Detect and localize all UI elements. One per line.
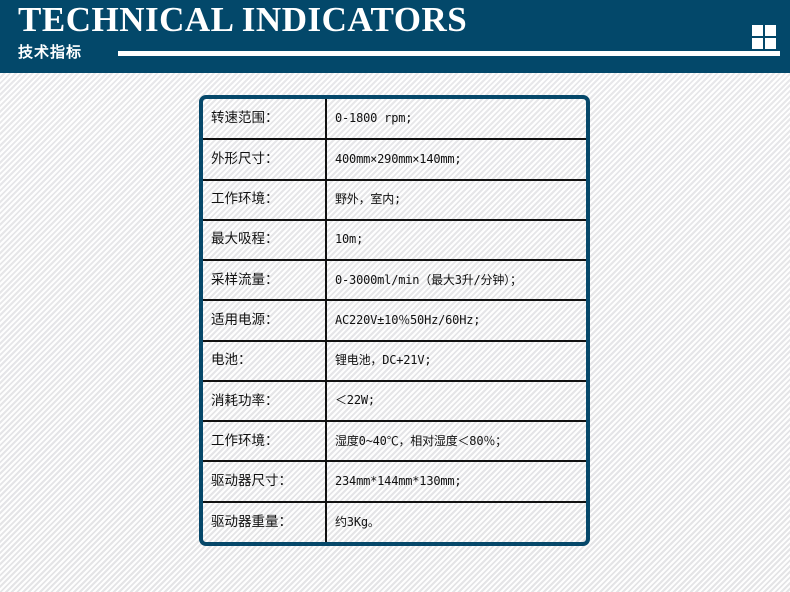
- spec-value-cell: 湿度0~40℃，相对湿度＜80％；: [326, 421, 586, 461]
- spec-value-cell: 约3Kg。: [326, 502, 586, 542]
- spec-value-cell: 400mm×290mm×140mm;: [326, 139, 586, 179]
- spec-label-cell: 最大吸程：: [203, 220, 326, 260]
- specifications-table-container: 转速范围：0-1800 rpm;外形尺寸：400mm×290mm×140mm;工…: [199, 95, 590, 546]
- grid-square-top-left: [752, 25, 763, 36]
- spec-value-cell: ＜22W;: [326, 381, 586, 421]
- grid-square-bottom-right: [765, 38, 776, 49]
- table-row: 电池：锂电池，DC+21V;: [203, 341, 586, 381]
- grid-square-bottom-left: [752, 38, 763, 49]
- table-row: 适用电源：AC220V±10％50Hz/60Hz;: [203, 300, 586, 340]
- table-row: 工作环境：湿度0~40℃，相对湿度＜80％；: [203, 421, 586, 461]
- spec-label-cell: 驱动器尺寸：: [203, 461, 326, 501]
- spec-label-cell: 适用电源：: [203, 300, 326, 340]
- spec-value-cell: 锂电池，DC+21V;: [326, 341, 586, 381]
- page-title-english: TECHNICAL INDICATORS: [18, 0, 467, 41]
- spec-value-cell: 0-3000ml/min（最大3升/分钟）；: [326, 260, 586, 300]
- spec-label-cell: 驱动器重量：: [203, 502, 326, 542]
- spec-value-cell: 10m;: [326, 220, 586, 260]
- table-row: 最大吸程：10m;: [203, 220, 586, 260]
- spec-label-cell: 外形尺寸：: [203, 139, 326, 179]
- header-divider-rule: [118, 51, 780, 56]
- table-row: 驱动器重量：约3Kg。: [203, 502, 586, 542]
- slide-page: TECHNICAL INDICATORS 技术指标 转速范围：0-1800 rp…: [0, 0, 790, 592]
- table-row: 转速范围：0-1800 rpm;: [203, 99, 586, 139]
- page-header: TECHNICAL INDICATORS 技术指标: [0, 0, 790, 73]
- spec-value-cell: 234mm*144mm*130mm;: [326, 461, 586, 501]
- grid-square-top-right: [765, 25, 776, 36]
- page-title-chinese: 技术指标: [18, 41, 82, 63]
- grid-2x2-icon: [752, 25, 776, 49]
- spec-value-cell: 野外，室内;: [326, 180, 586, 220]
- table-row: 工作环境：野外，室内;: [203, 180, 586, 220]
- table-row: 驱动器尺寸：234mm*144mm*130mm;: [203, 461, 586, 501]
- spec-value-cell: 0-1800 rpm;: [326, 99, 586, 139]
- spec-label-cell: 工作环境：: [203, 180, 326, 220]
- table-row: 消耗功率：＜22W;: [203, 381, 586, 421]
- table-row: 外形尺寸：400mm×290mm×140mm;: [203, 139, 586, 179]
- spec-label-cell: 采样流量：: [203, 260, 326, 300]
- specifications-table: 转速范围：0-1800 rpm;外形尺寸：400mm×290mm×140mm;工…: [203, 99, 586, 542]
- spec-label-cell: 消耗功率：: [203, 381, 326, 421]
- specifications-table-body: 转速范围：0-1800 rpm;外形尺寸：400mm×290mm×140mm;工…: [203, 99, 586, 542]
- spec-value-cell: AC220V±10％50Hz/60Hz;: [326, 300, 586, 340]
- table-row: 采样流量：0-3000ml/min（最大3升/分钟）；: [203, 260, 586, 300]
- spec-label-cell: 转速范围：: [203, 99, 326, 139]
- spec-label-cell: 工作环境：: [203, 421, 326, 461]
- spec-label-cell: 电池：: [203, 341, 326, 381]
